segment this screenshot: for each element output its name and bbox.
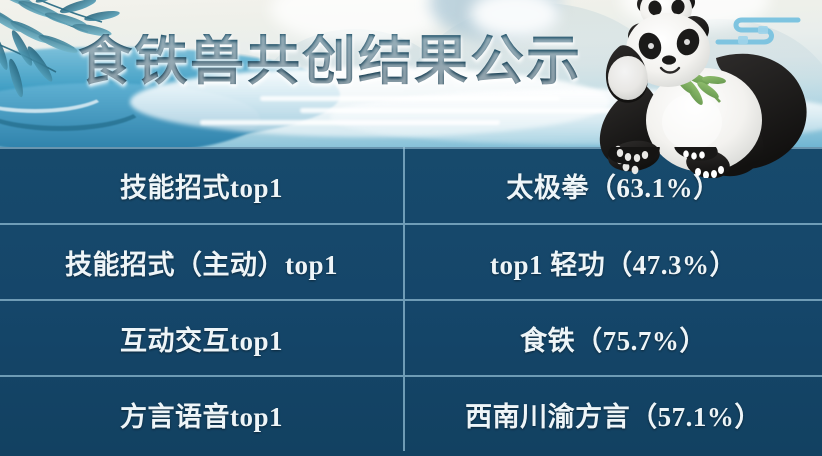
water-line	[200, 120, 500, 125]
table-row: 技能招式top1 太极拳（63.1%）	[0, 147, 822, 223]
table-cell-label: 互动交互top1	[0, 301, 403, 375]
table-row: 技能招式（主动）top1 top1 轻功（47.3%）	[0, 223, 822, 299]
header-banner: 食铁兽共创结果公示	[0, 0, 822, 147]
table-cell-label: 技能招式（主动）top1	[0, 225, 403, 299]
water-line	[300, 108, 660, 113]
table-row: 互动交互top1 食铁（75.7%）	[0, 299, 822, 375]
water-line	[260, 96, 560, 101]
table-cell-label: 方言语音top1	[0, 377, 403, 451]
announcement-graphic: 食铁兽共创结果公示	[0, 0, 822, 456]
table-cell-value: 太极拳（63.1%）	[403, 147, 822, 223]
table-cell-label: 技能招式top1	[0, 147, 403, 223]
table-cell-value: 西南川渝方言（57.1%）	[403, 377, 822, 451]
table-cell-value: top1 轻功（47.3%）	[403, 225, 822, 299]
results-table: 技能招式top1 太极拳（63.1%） 技能招式（主动）top1 top1 轻功…	[0, 147, 822, 456]
page-title: 食铁兽共创结果公示	[0, 34, 660, 88]
table-cell-value: 食铁（75.7%）	[403, 301, 822, 375]
table-top-border	[0, 147, 822, 149]
table-row: 方言语音top1 西南川渝方言（57.1%）	[0, 375, 822, 451]
cloud-motif-icon	[712, 8, 804, 60]
